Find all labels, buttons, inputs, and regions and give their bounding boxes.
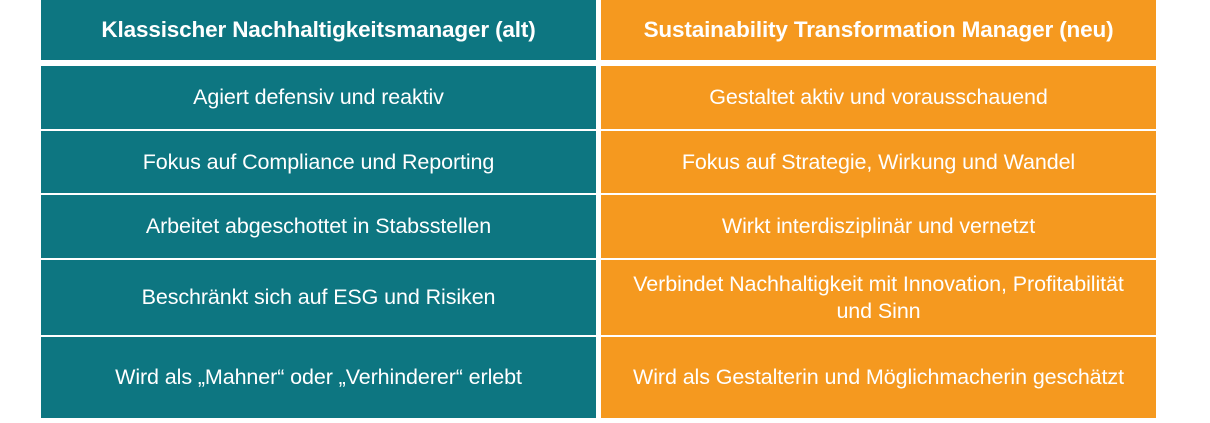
cell-new-2-text: Fokus auf Strategie, Wirkung und Wandel (615, 149, 1142, 175)
column-header-new: Sustainability Transformation Manager (n… (601, 0, 1156, 60)
cell-new-4-text: Verbindet Nachhaltigkeit mit Innovation,… (615, 271, 1142, 323)
cell-new-1-text: Gestaltet aktiv und vorausschauend (615, 84, 1142, 110)
cell-new-5-text: Wird als Gestalterin und Möglichmacherin… (615, 364, 1142, 390)
cell-old-4: Beschränkt sich auf ESG und Risiken (41, 260, 596, 335)
column-header-old: Klassischer Nachhaltigkeitsmanager (alt) (41, 0, 596, 60)
comparison-table: Klassischer Nachhaltigkeitsmanager (alt)… (41, 0, 1156, 423)
cell-old-1: Agiert defensiv und reaktiv (41, 66, 596, 129)
cell-old-4-text: Beschränkt sich auf ESG und Risiken (55, 284, 582, 310)
cell-new-5: Wird als Gestalterin und Möglichmacherin… (601, 337, 1156, 418)
table-header-row: Klassischer Nachhaltigkeitsmanager (alt)… (41, 0, 1156, 60)
table-row: Beschränkt sich auf ESG und Risiken Verb… (41, 260, 1156, 335)
cell-old-1-text: Agiert defensiv und reaktiv (55, 84, 582, 110)
cell-old-2: Fokus auf Compliance und Reporting (41, 131, 596, 193)
cell-new-3: Wirkt interdisziplinär und vernetzt (601, 195, 1156, 258)
cell-old-3: Arbeitet abgeschottet in Stabsstellen (41, 195, 596, 258)
cell-new-4: Verbindet Nachhaltigkeit mit Innovation,… (601, 260, 1156, 335)
table-row: Arbeitet abgeschottet in Stabsstellen Wi… (41, 195, 1156, 258)
cell-new-3-text: Wirkt interdisziplinär und vernetzt (615, 213, 1142, 239)
cell-old-5-text: Wird als „Mahner“ oder „Verhinderer“ erl… (55, 364, 582, 390)
cell-old-3-text: Arbeitet abgeschottet in Stabsstellen (55, 213, 582, 239)
table-row: Agiert defensiv und reaktiv Gestaltet ak… (41, 66, 1156, 129)
cell-new-2: Fokus auf Strategie, Wirkung und Wandel (601, 131, 1156, 193)
cell-new-1: Gestaltet aktiv und vorausschauend (601, 66, 1156, 129)
column-header-old-label: Klassischer Nachhaltigkeitsmanager (alt) (55, 16, 582, 43)
table-row: Wird als „Mahner“ oder „Verhinderer“ erl… (41, 337, 1156, 418)
column-header-new-label: Sustainability Transformation Manager (n… (615, 16, 1142, 43)
cell-old-5: Wird als „Mahner“ oder „Verhinderer“ erl… (41, 337, 596, 418)
cell-old-2-text: Fokus auf Compliance und Reporting (55, 149, 582, 175)
table-row: Fokus auf Compliance und Reporting Fokus… (41, 131, 1156, 193)
